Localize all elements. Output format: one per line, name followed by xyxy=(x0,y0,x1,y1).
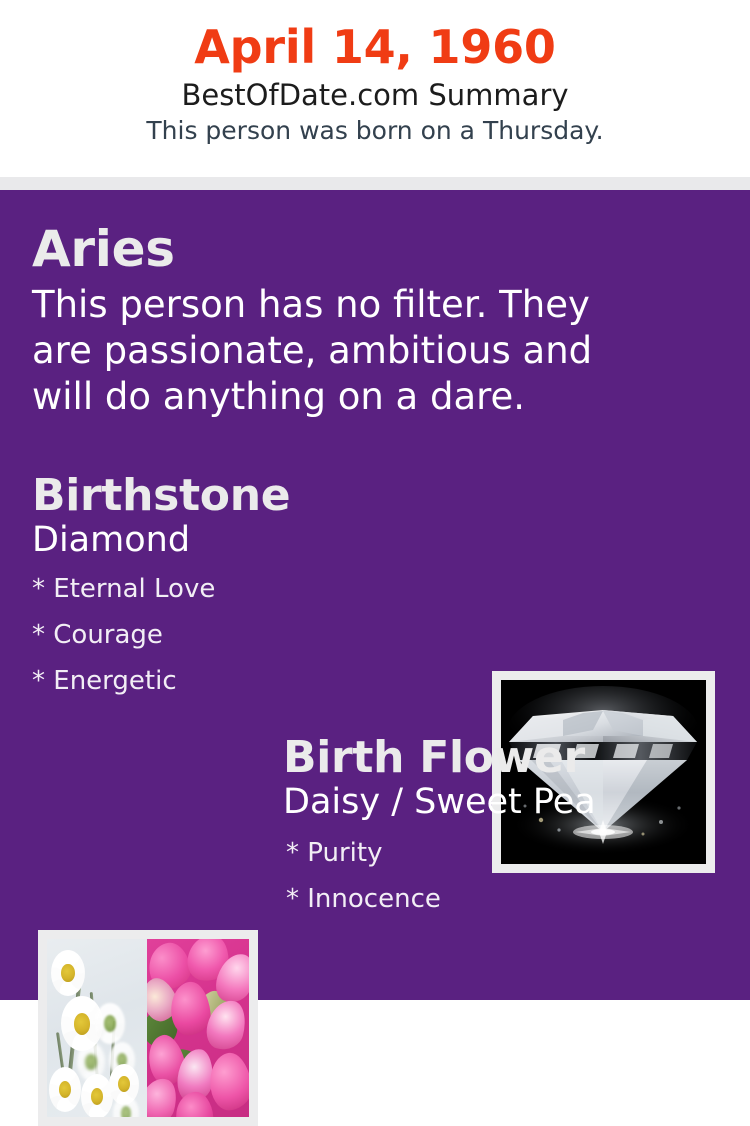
sweet-pea-icon xyxy=(147,939,249,1117)
list-item: * Eternal Love xyxy=(32,566,462,612)
birth-flower-image xyxy=(47,939,249,1117)
birth-flower-image-frame xyxy=(38,930,258,1126)
birth-flower-heading: Birth Flower xyxy=(283,735,733,782)
list-item: * Courage xyxy=(32,612,462,658)
list-item: * Purity xyxy=(286,830,733,876)
birthstone-section: Birthstone Diamond * Eternal Love * Cour… xyxy=(32,473,462,704)
zodiac-description: This person has no filter. They are pass… xyxy=(32,276,647,420)
zodiac-section: Aries This person has no filter. They ar… xyxy=(32,223,692,420)
birth-flower-name: Daisy / Sweet Pea xyxy=(283,782,733,822)
content-panel: Aries This person has no filter. They ar… xyxy=(0,190,750,1000)
header-divider xyxy=(0,177,750,190)
daisy-icon xyxy=(47,939,147,1117)
birth-flower-section: Birth Flower Daisy / Sweet Pea * Purity … xyxy=(283,735,733,922)
site-name: BestOfDate.com Summary xyxy=(0,72,750,111)
flower-composite xyxy=(47,939,249,1117)
page-title-date: April 14, 1960 xyxy=(0,0,750,72)
list-item: * Energetic xyxy=(32,658,462,704)
list-item: * Innocence xyxy=(286,876,733,922)
zodiac-sign-name: Aries xyxy=(32,223,692,276)
infographic-page: April 14, 1960 BestOfDate.com Summary Th… xyxy=(0,0,750,1000)
birthstone-heading: Birthstone xyxy=(32,473,462,520)
birth-weekday-note: This person was born on a Thursday. xyxy=(0,111,750,144)
birthstone-name: Diamond xyxy=(32,520,462,560)
birthstone-trait-list: * Eternal Love * Courage * Energetic xyxy=(32,559,462,704)
birth-flower-trait-list: * Purity * Innocence xyxy=(283,821,733,922)
header: April 14, 1960 BestOfDate.com Summary Th… xyxy=(0,0,750,177)
